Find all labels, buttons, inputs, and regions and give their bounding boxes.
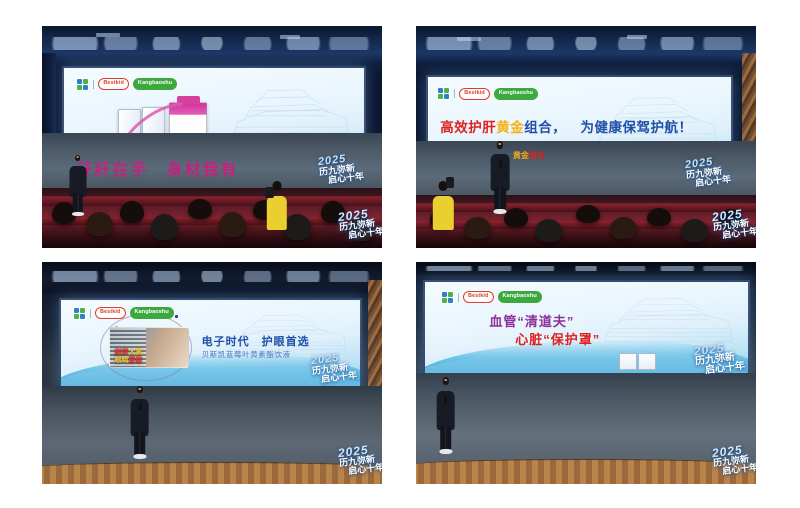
- presenter-face: [499, 143, 502, 145]
- puzzle-square-logo-icon: [73, 307, 86, 320]
- bestkid-logo: Bestkid: [463, 291, 494, 303]
- card-caption: 刷屏太累 眼睛要歇: [115, 349, 143, 364]
- presenter-head: [137, 386, 143, 393]
- audience-head: [576, 205, 600, 223]
- event-watermark: 2025 历九弥新 启心十年: [317, 153, 356, 186]
- ceiling-panel: [96, 33, 120, 37]
- event-watermark: 2025 历九弥新 启心十年: [684, 156, 723, 189]
- slide-logo-strip: Bestkid Kangbaoshu: [437, 87, 538, 100]
- logo-divider: [454, 89, 455, 98]
- slide-logo-strip: Bestkid Kangbaoshu: [73, 307, 174, 320]
- camera-operator-panel-1: [266, 181, 286, 230]
- stage-4: [416, 373, 756, 484]
- presenter-head: [497, 141, 503, 148]
- audience-head: [464, 217, 491, 239]
- slide-headline: 电子时代 护眼首选: [202, 333, 310, 349]
- bestkid-logo: Bestkid: [95, 307, 126, 319]
- eye-care-photo-card: 刷屏太累 眼睛要歇: [109, 327, 189, 368]
- product-box: [619, 353, 637, 370]
- auditorium-hall: Bestkid Kangbaoshu 高效护肝黄金组合， 为健康保驾护航！ 黄金…: [416, 26, 756, 248]
- logo-divider: [458, 293, 459, 302]
- headline-part-2: 组合，: [524, 120, 566, 135]
- audience-head: [283, 214, 310, 239]
- puzzle-square-logo-icon: [437, 87, 450, 100]
- orbit-dot: [175, 315, 178, 318]
- video-camera-icon: [446, 177, 455, 188]
- slide-headline-line-1: 血管“清道夫”: [489, 311, 574, 330]
- card-caption-line-1: 刷屏太累: [115, 349, 143, 356]
- audience-head: [188, 199, 212, 219]
- video-camera-icon: [265, 187, 274, 198]
- ceiling-panel: [627, 35, 647, 39]
- audience-head: [610, 217, 637, 239]
- presenter-head: [75, 155, 81, 161]
- ceiling-lights: [416, 262, 756, 275]
- event-watermark: 2025 历九弥新 启心十年: [693, 340, 737, 377]
- product-label-combo: 组合: [529, 151, 545, 160]
- puzzle-square-logo-icon: [441, 291, 454, 304]
- presenter-panel-3: [130, 386, 149, 457]
- headline-highlight: 黄金: [496, 120, 524, 135]
- audience-seating-2: [416, 195, 756, 248]
- microphone-icon: [139, 403, 142, 410]
- presenter-panel-4: [436, 377, 455, 452]
- logo-divider: [93, 80, 94, 89]
- panel-slide-cardiovascular[interactable]: Bestkid Kangbaoshu 血管“清道夫” 心脏“保护罩” 2025 …: [416, 262, 756, 484]
- audience-head: [535, 219, 562, 241]
- presenter-panel-2: [491, 141, 510, 212]
- ceiling-lights: [416, 26, 756, 64]
- stage-front-edge: [416, 459, 756, 484]
- camera-operator-panel-2: [433, 181, 453, 230]
- bestkid-logo: Bestkid: [98, 78, 129, 90]
- ceiling-panel: [280, 35, 300, 39]
- presenter-shoes: [133, 454, 146, 459]
- presenter-face: [444, 379, 447, 381]
- panel-slide-fiber-weight-management[interactable]: Bestkid Kangbaoshu 纤纤在手 身材我有 2025 历九弥新 启…: [42, 26, 382, 248]
- logo-divider: [90, 309, 91, 318]
- audience-head: [219, 212, 246, 237]
- microphone-icon: [499, 160, 502, 167]
- kangbaoshu-logo: Kangbaoshu: [130, 307, 174, 319]
- presenter-shoes: [439, 449, 452, 454]
- presenter-face: [76, 156, 79, 158]
- auditorium-hall: Bestkid Kangbaoshu 刷屏太累 眼睛要歇 电子时代 护眼首选 贝…: [42, 262, 382, 484]
- product-label: 黄金组合: [513, 150, 545, 161]
- ceiling-lights: [42, 26, 382, 64]
- kangbaoshu-logo: Kangbaoshu: [133, 78, 177, 90]
- stage-front-edge: [42, 462, 382, 484]
- kangbaoshu-logo: Kangbaoshu: [494, 88, 538, 100]
- presenter-face: [138, 388, 141, 390]
- event-watermark-corner: 2025 历九弥新 启心十年: [711, 443, 750, 477]
- event-watermark-corner: 2025 历九弥新 启心十年: [711, 207, 750, 241]
- audience-head: [86, 212, 113, 236]
- stage-3: [42, 386, 382, 484]
- audience-head: [681, 219, 708, 241]
- product-label-gold: 黄金: [513, 151, 529, 160]
- event-watermark-corner: 2025 历九弥新 启心十年: [337, 207, 376, 241]
- presenter-shoes: [72, 212, 84, 216]
- kangbaoshu-logo: Kangbaoshu: [498, 291, 542, 303]
- headline-part-3: 为健康保驾护航！: [581, 120, 693, 135]
- ceiling-lights: [42, 262, 382, 293]
- led-screen-3: Bestkid Kangbaoshu 刷屏太累 眼睛要歇 电子时代 护眼首选 贝…: [59, 298, 362, 391]
- presenter-body: [69, 166, 86, 197]
- event-watermark-corner: 2025 历九弥新 启心十年: [337, 443, 376, 477]
- headline-part-1: 高效护肝: [440, 120, 496, 135]
- presenter-shoes: [494, 209, 507, 214]
- slide-headline: 高效护肝黄金组合， 为健康保驾护航！: [440, 116, 692, 136]
- audience-head: [120, 201, 144, 223]
- slide-logo-strip: Bestkid Kangbaoshu: [76, 78, 177, 91]
- slide-headline: 纤纤在手 身材我有: [76, 156, 238, 180]
- presenter-panel-1: [69, 155, 86, 215]
- auditorium-hall: Bestkid Kangbaoshu 血管“清道夫” 心脏“保护罩” 2025 …: [416, 262, 756, 484]
- camera-operator-body: [266, 196, 286, 230]
- audience-head: [647, 208, 671, 226]
- product-box: [638, 353, 656, 370]
- audience-head: [151, 214, 178, 239]
- slide-logo-strip: Bestkid Kangbaoshu: [441, 291, 542, 304]
- auditorium-hall: Bestkid Kangbaoshu 纤纤在手 身材我有 2025 历九弥新 启…: [42, 26, 382, 248]
- photo-collage: Bestkid Kangbaoshu 纤纤在手 身材我有 2025 历九弥新 启…: [0, 0, 800, 508]
- panel-slide-liver-protection[interactable]: Bestkid Kangbaoshu 高效护肝黄金组合， 为健康保驾护航！ 黄金…: [416, 26, 756, 248]
- ceiling-panel: [457, 37, 481, 41]
- puzzle-square-logo-icon: [76, 78, 89, 91]
- microphone-icon: [444, 396, 447, 403]
- slide-headline-line-2: 心脏“保护罩”: [515, 329, 600, 348]
- led-screen-4: Bestkid Kangbaoshu 血管“清道夫” 心脏“保护罩” 2025 …: [423, 280, 750, 382]
- event-watermark: 2025 历九弥新 启心十年: [311, 352, 350, 385]
- slide-subtitle: 贝斯凯蓝莓叶黄素酯饮液: [202, 349, 291, 360]
- bestkid-logo: Bestkid: [459, 88, 490, 100]
- led-screen-1: Bestkid Kangbaoshu 纤纤在手 身材我有 2025 历九弥新 启…: [62, 66, 365, 192]
- presenter-head: [443, 377, 449, 384]
- panel-slide-eye-care[interactable]: Bestkid Kangbaoshu 刷屏太累 眼睛要歇 电子时代 护眼首选 贝…: [42, 262, 382, 484]
- card-caption-line-2: 眼睛要歇: [115, 357, 143, 364]
- audience-seating-1: [42, 188, 382, 248]
- camera-operator-body: [433, 196, 453, 230]
